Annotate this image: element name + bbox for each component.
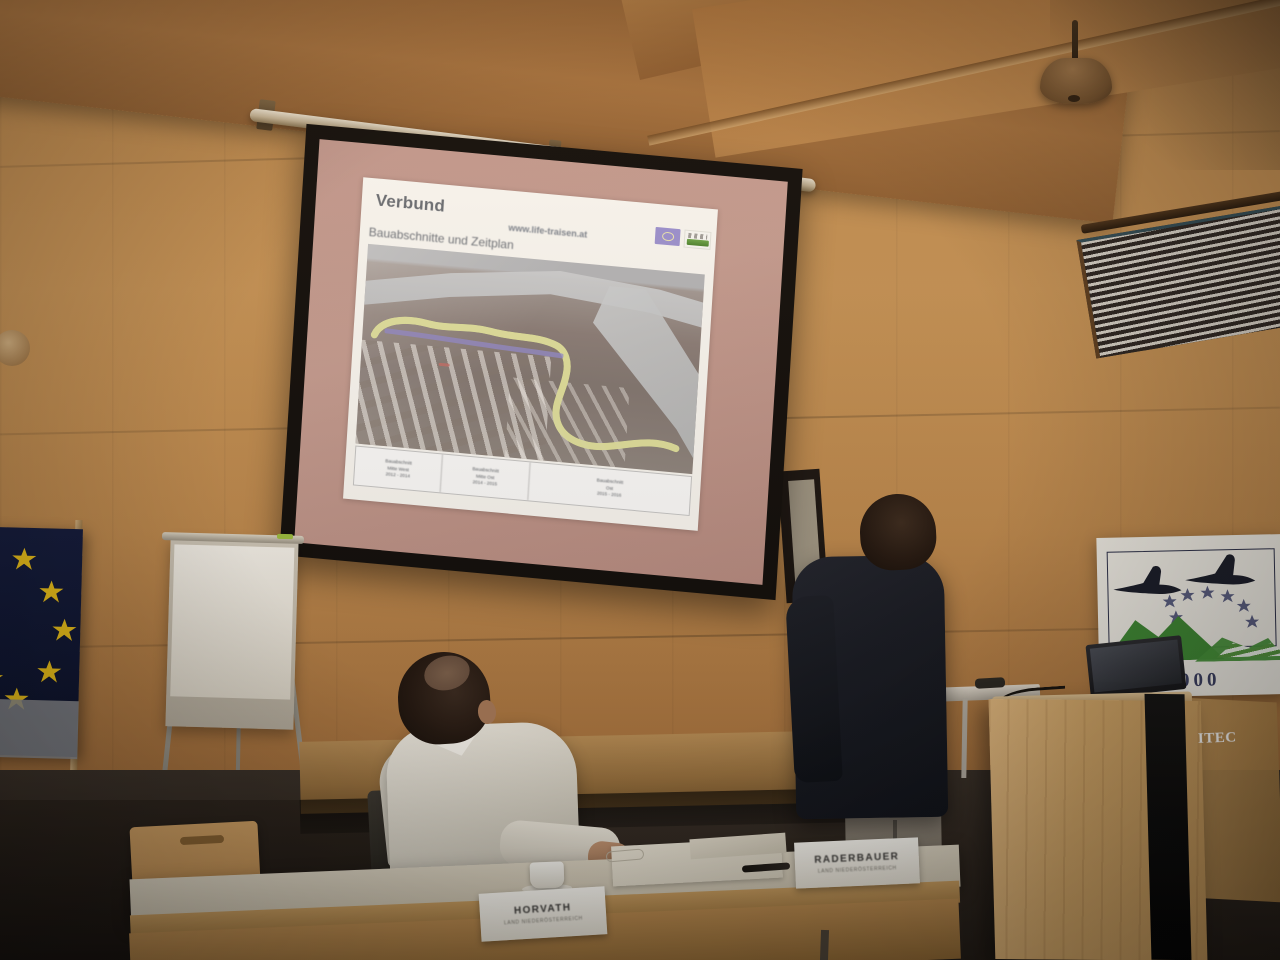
podium-brand-logo: ITEC bbox=[1198, 729, 1249, 753]
nameplate: RADERBAUER LAND NIEDERÖSTERREICH bbox=[794, 837, 920, 888]
table-row: Bauabschnitt Mitte West 2012 - 2014 bbox=[354, 447, 443, 493]
coffee-cup[interactable] bbox=[530, 861, 565, 888]
presentation-slide: Verbund www.life-traisen.at Bauabschnitt… bbox=[343, 177, 718, 531]
nameplate-name: HORVATH bbox=[514, 902, 572, 916]
side-table-item bbox=[975, 677, 1005, 689]
projection-screen-surface: Verbund www.life-traisen.at Bauabschnitt… bbox=[294, 139, 788, 585]
flipchart-board bbox=[165, 536, 298, 729]
phase-line3: 2012 - 2014 bbox=[385, 472, 410, 481]
flag-lower-band bbox=[0, 699, 79, 759]
slide-brand-title: Verbund bbox=[375, 190, 445, 216]
phase-line3: 2015 - 2016 bbox=[597, 491, 622, 500]
podium-black-strip bbox=[1145, 694, 1192, 960]
presentation-room-scene: Verbund www.life-traisen.at Bauabschnitt… bbox=[0, 0, 1280, 960]
nameplate: HORVATH LAND NIEDERÖSTERREICH bbox=[479, 886, 608, 942]
flipchart-marker bbox=[277, 534, 293, 539]
nameplate-subtitle: LAND NIEDERÖSTERREICH bbox=[818, 865, 897, 874]
presenter-sleeve bbox=[785, 595, 843, 783]
slide-url: www.life-traisen.at bbox=[508, 223, 588, 240]
phase-line3: 2014 - 2015 bbox=[472, 480, 497, 489]
lamp-bulb bbox=[1068, 95, 1080, 102]
aerial-map-image bbox=[356, 244, 705, 474]
life-logo-icon bbox=[683, 230, 711, 250]
nameplate-name: RADERBAUER bbox=[814, 851, 900, 866]
nameplate-subtitle: LAND NIEDERÖSTERREICH bbox=[504, 916, 583, 927]
life-logo-band bbox=[687, 239, 709, 247]
eu-logo-ring bbox=[661, 231, 674, 241]
projection-screen: Verbund www.life-traisen.at Bauabschnitt… bbox=[279, 124, 802, 600]
eu-logo-icon bbox=[655, 227, 681, 246]
flipchart-paper bbox=[170, 544, 294, 699]
conference-table-leg bbox=[819, 930, 829, 960]
table-row: Bauabschnitt Mitte Ost 2014 - 2015 bbox=[441, 454, 530, 500]
laptop-screen bbox=[1090, 640, 1182, 693]
lamp-cord bbox=[1072, 20, 1078, 62]
laptop[interactable] bbox=[1085, 635, 1186, 699]
